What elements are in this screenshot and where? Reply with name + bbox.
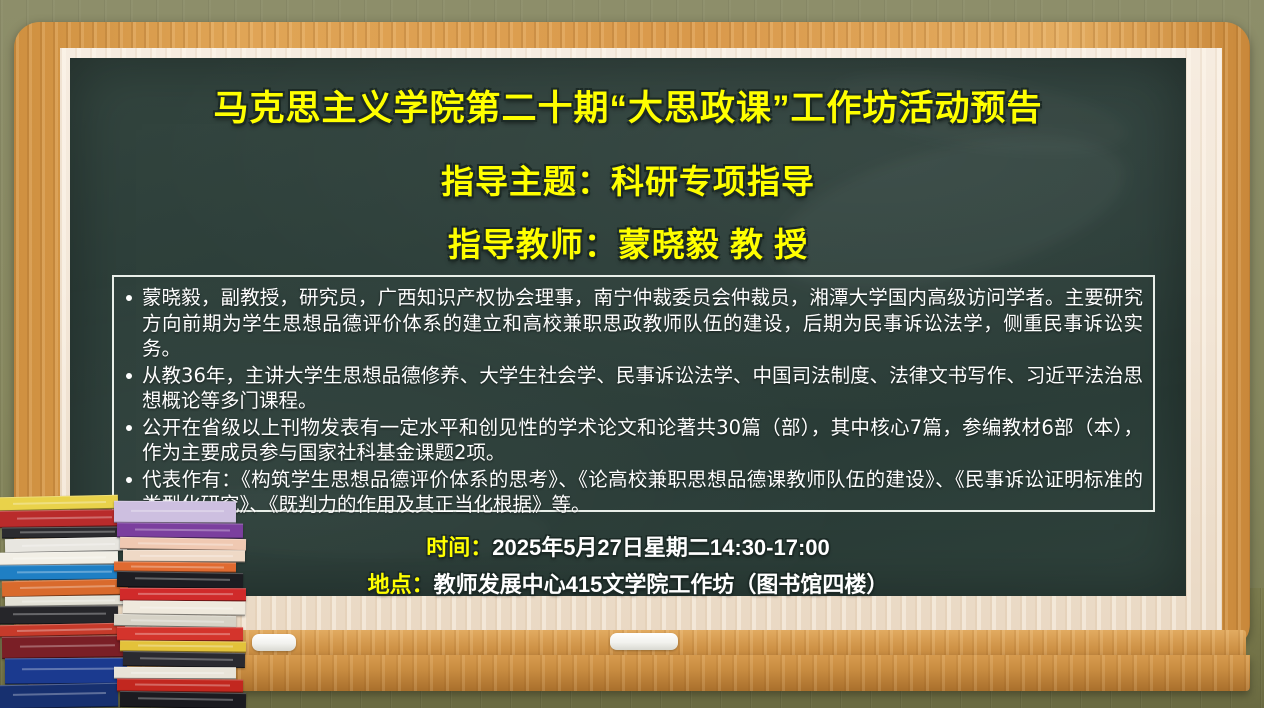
subtitle-topic: 指导主题：科研专项指导	[70, 155, 1186, 203]
event-place-row: 地点：教师发展中心415文学院工作坊（图书馆四楼）	[70, 567, 1186, 599]
event-place-label: 地点：	[368, 572, 434, 597]
list-item: 公开在省级以上刊物发表有一定水平和创见性的学术论文和论著共30篇（部），其中核心…	[122, 415, 1143, 466]
chalk-piece	[610, 633, 678, 650]
biography-box: 蒙晓毅，副教授，研究员，广西知识产权协会理事，南宁仲裁委员会仲裁员，湘潭大学国内…	[112, 275, 1155, 512]
list-item: 代表作有：《构筑学生思想品德评价体系的思考》、《论高校兼职思想品德课教师队伍的建…	[122, 467, 1143, 518]
event-time-row: 时间：2025年5月27日星期二14:30-17:00	[70, 530, 1186, 562]
chalk-tray-front	[28, 655, 1250, 691]
poster-canvas: 马克思主义学院第二十期“大思政课”工作坊活动预告 指导主题：科研专项指导 指导教…	[0, 0, 1264, 708]
chalk-piece	[252, 634, 296, 651]
event-place-value: 教师发展中心415文学院工作坊（图书馆四楼）	[434, 572, 889, 597]
list-item: 蒙晓毅，副教授，研究员，广西知识产权协会理事，南宁仲裁委员会仲裁员，湘潭大学国内…	[122, 285, 1143, 362]
poster-title: 马克思主义学院第二十期“大思政课”工作坊活动预告	[70, 80, 1186, 131]
event-time-label: 时间：	[426, 535, 492, 560]
subtitle-teacher: 指导教师：蒙晓毅 教 授	[70, 218, 1186, 266]
event-time-value: 2025年5月27日星期二14:30-17:00	[492, 535, 830, 560]
list-item: 从教36年，主讲大学生思想品德修养、大学生社会学、民事诉讼法学、中国司法制度、法…	[122, 363, 1143, 414]
biography-bullet-list: 蒙晓毅，副教授，研究员，广西知识产权协会理事，南宁仲裁委员会仲裁员，湘潭大学国内…	[122, 285, 1143, 518]
